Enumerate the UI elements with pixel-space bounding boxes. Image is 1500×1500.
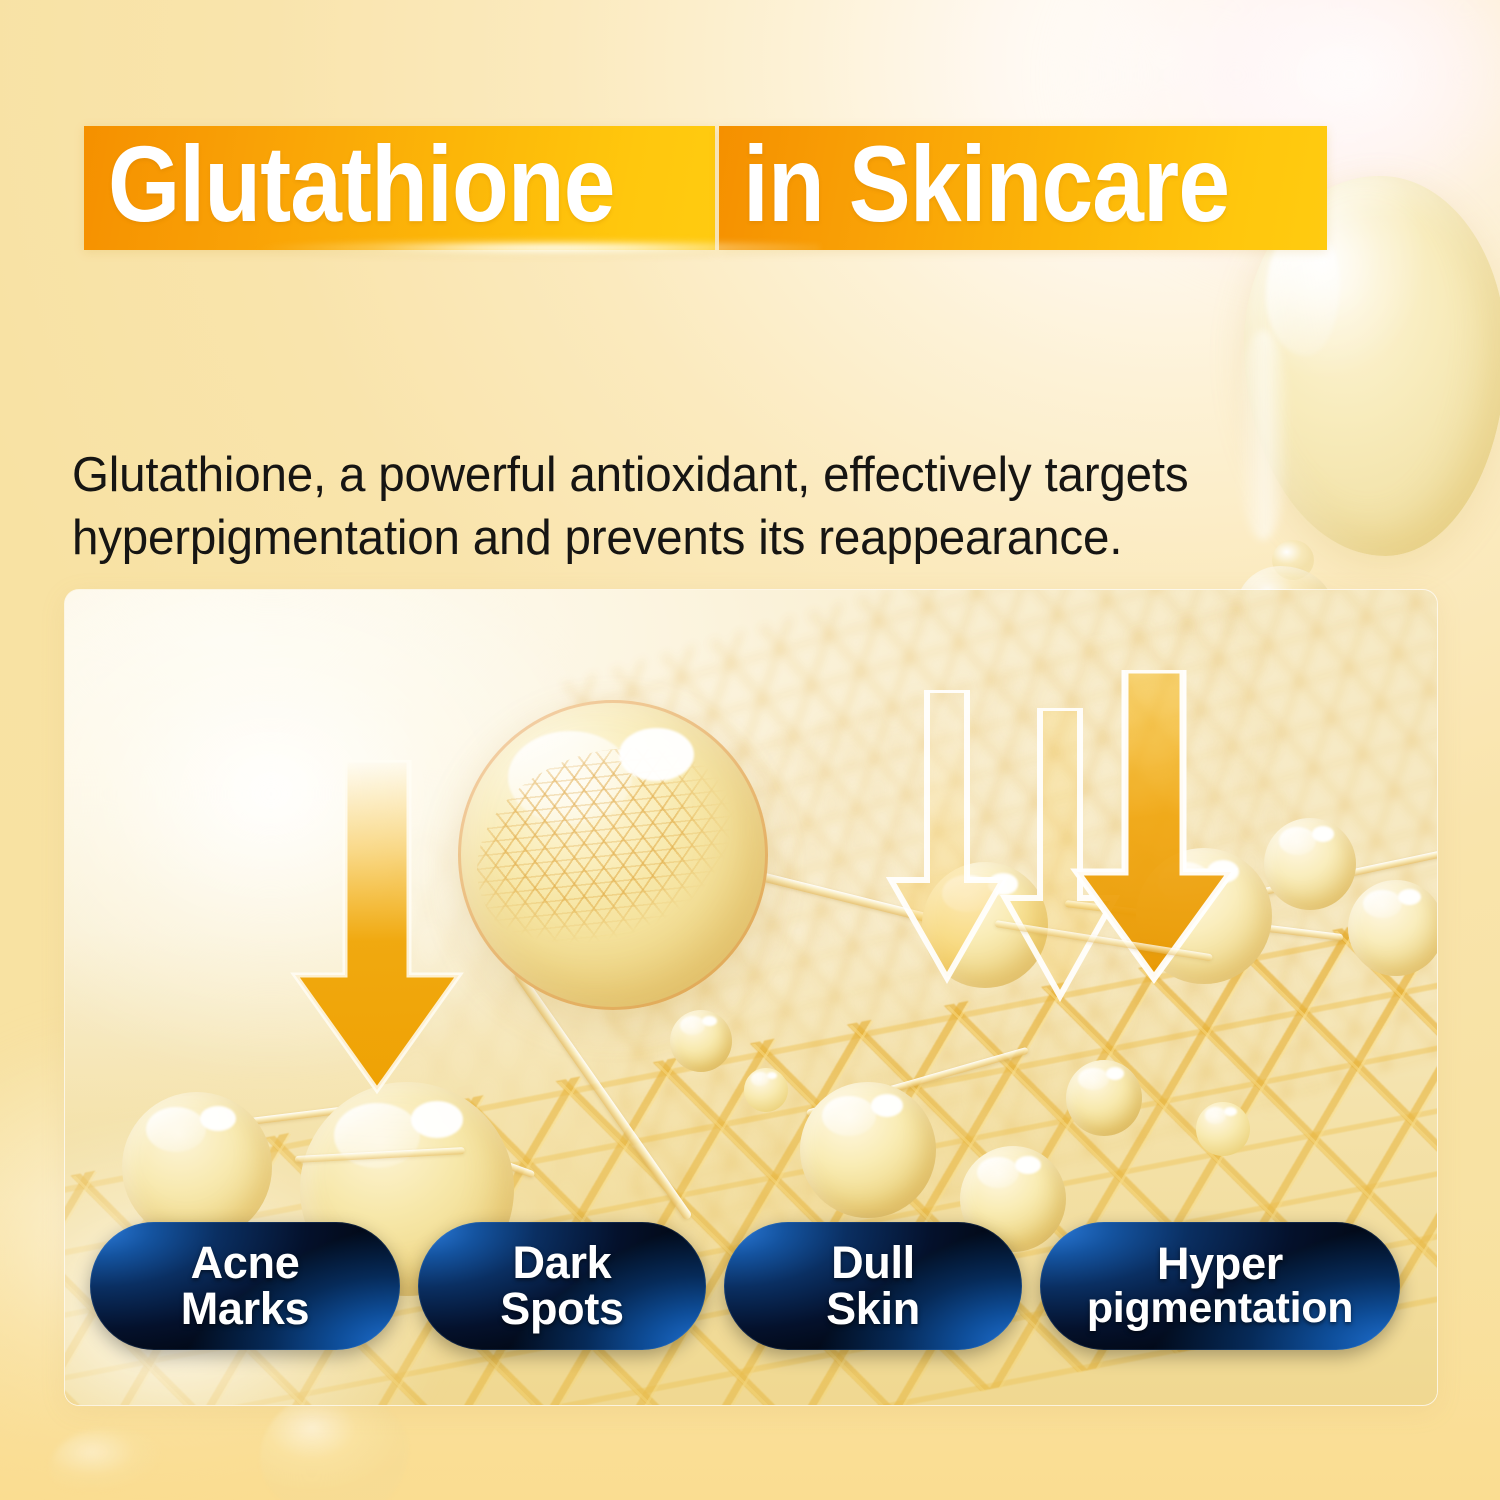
molecule-sphere [800,1082,936,1218]
subtitle-line-2: hyperpigmentation and prevents its reapp… [72,507,1275,570]
molecule-sphere [1066,1060,1142,1136]
benefit-pill-line-1: Dull [826,1240,920,1286]
title-banner-line-2: in Skincare [719,126,1326,250]
benefit-pill-line-2: Skin [826,1286,920,1332]
benefit-pill-hyperpigmentation[interactable]: Hyper pigmentation [1040,1222,1400,1350]
title-line-1-text: Glutathione [108,132,615,236]
molecule-sphere [670,1010,732,1072]
benefit-pill-line-1: Dark [500,1240,624,1286]
benefit-pill-line-1: Hyper [1087,1241,1353,1287]
benefit-pill-row: Acne Marks Dark Spots Dull Skin Hyper pi… [90,1222,1400,1350]
benefit-pill-dull-skin[interactable]: Dull Skin [724,1222,1022,1350]
subtitle-line-1: Glutathione, a powerful antioxidant, eff… [72,444,1275,507]
title-banner-line-1: Glutathione [84,126,715,250]
molecule-sphere [1348,880,1437,976]
molecule-sphere-small [1196,1102,1250,1156]
benefit-pill-line-2: Marks [181,1286,310,1332]
molecule-sphere [1264,818,1356,910]
benefit-pill-dark-spots[interactable]: Dark Spots [418,1222,706,1350]
sphere-honeycomb-texture [477,734,750,975]
molecule-sphere-small [744,1068,788,1112]
subtitle: Glutathione, a powerful antioxidant, eff… [72,444,1275,569]
arrow-down-outline-1-icon [883,690,1011,990]
molecule-sphere [122,1092,272,1242]
arrow-down-large-left-icon [287,760,467,1100]
decorative-droplet-bottom-left-2 [50,1428,170,1500]
benefit-pill-line-2: pigmentation [1087,1287,1353,1331]
benefit-pill-line-2: Spots [500,1286,624,1332]
page-title: Glutathione in Skincare [84,104,1327,250]
benefit-pill-line-1: Acne [181,1240,310,1286]
title-line-2-text: in Skincare [743,132,1229,236]
benefit-pill-acne-marks[interactable]: Acne Marks [90,1222,400,1350]
molecule-sphere-primary [458,700,768,1010]
